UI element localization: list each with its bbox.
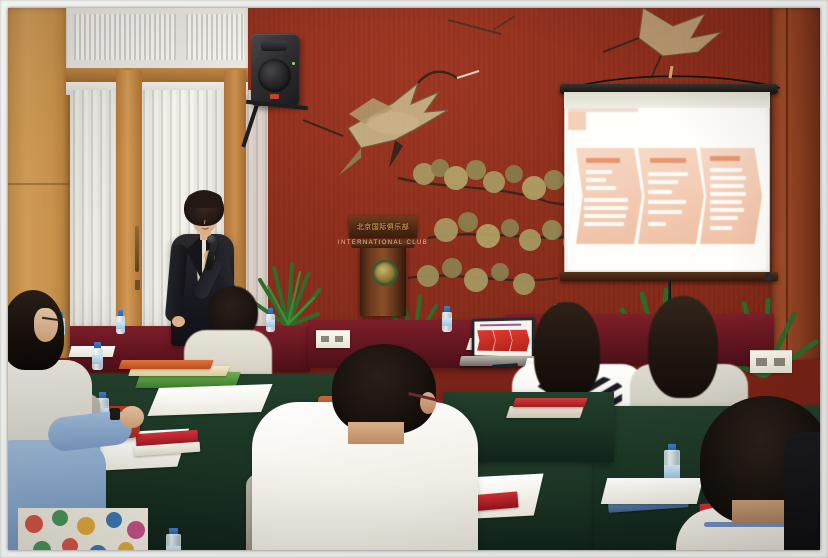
water-bottle[interactable] (442, 306, 452, 332)
booklet-red[interactable] (513, 398, 588, 407)
lectern-sign-english: INTERNATIONAL CLUB (346, 237, 420, 249)
attendee-center-neck (348, 422, 404, 444)
booklet-stack[interactable] (118, 360, 213, 369)
laptop-display[interactable] (474, 320, 531, 356)
slide-chevron-3 (700, 148, 762, 244)
window-curtain-left (70, 90, 116, 358)
seminar-photograph: 北京国际俱乐部 INTERNATIONAL CLUB (8, 8, 820, 550)
speaker-woofer (258, 59, 291, 92)
speaker-brand-logo (270, 94, 279, 99)
water-bottle[interactable] (116, 310, 125, 334)
water-bottle[interactable] (266, 308, 275, 332)
lectern-sign-en-text: INTERNATIONAL CLUB (338, 240, 428, 246)
attendee-left-watch (110, 408, 120, 420)
ventilation-grille-right (186, 14, 244, 60)
door-handle[interactable] (135, 226, 139, 272)
slide-corner-mark (568, 112, 586, 130)
screen-end-cap (764, 272, 773, 281)
screen-top-band (564, 92, 770, 108)
name-tent-card (750, 350, 792, 373)
handout-paper (601, 478, 703, 504)
slide-chevron-2 (638, 148, 704, 244)
attendee-edge-shoulder (784, 432, 820, 550)
presenter-facial-features (192, 204, 218, 236)
speaker-tweeter (261, 41, 287, 51)
attendee-center-head (332, 344, 436, 434)
patterned-fabric (18, 508, 148, 550)
presenter-hand-left (172, 316, 185, 327)
projected-slide (568, 108, 766, 270)
wood-seam (8, 183, 70, 185)
ventilation-grille-left (74, 14, 176, 60)
door-header-beam (66, 68, 248, 82)
water-bottle[interactable] (166, 528, 181, 550)
door-lock[interactable] (135, 280, 140, 290)
attendee-long-hair-head (648, 296, 718, 398)
photo-frame: 北京国际俱乐部 INTERNATIONAL CLUB (0, 0, 828, 558)
booklet-stack[interactable] (506, 406, 584, 418)
speaker-power-led (292, 62, 295, 65)
slide-chevron-1 (576, 148, 642, 244)
lectern-sign-chinese: 北京国际俱乐部 (349, 216, 417, 238)
attendee-left-hand (120, 406, 144, 428)
water-bottle[interactable] (92, 342, 103, 370)
lectern-sign-cn-text: 北京国际俱乐部 (357, 222, 410, 232)
name-tent-card (316, 330, 350, 348)
club-emblem (372, 260, 398, 286)
attendee-striped-hair (534, 302, 600, 398)
handout-paper (147, 384, 272, 416)
